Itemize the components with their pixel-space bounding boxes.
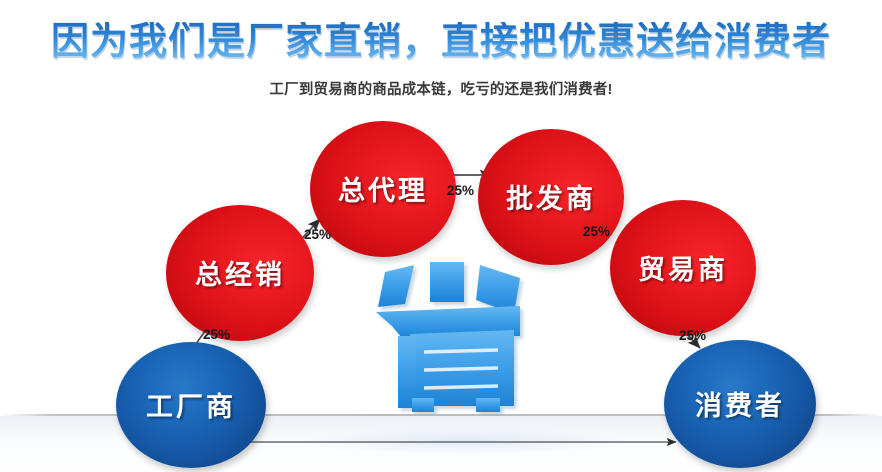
node-label-wholesaler: 批发商 — [506, 177, 596, 216]
node-trader[interactable]: 贸易商 — [610, 200, 756, 336]
promo-banner: 因为我们是厂家直销，直接把优惠送给消费者 工厂到贸易商的商品成本链，吃亏的还是我… — [0, 0, 882, 472]
markup-factory-distributor: 25% — [203, 327, 230, 342]
node-label-agent: 总代理 — [338, 169, 428, 208]
markup-trader-consumer: 25% — [679, 328, 706, 343]
node-label-distributor: 总经销 — [195, 253, 285, 292]
node-label-trader: 贸易商 — [638, 248, 728, 287]
markup-agent-wholesaler: 25% — [447, 183, 474, 198]
node-consumer[interactable]: 消费者 — [664, 340, 816, 468]
markup-wholesaler-trader: 25% — [583, 224, 610, 239]
node-agent[interactable]: 总代理 — [310, 121, 456, 257]
node-factory[interactable]: 工厂商 — [116, 342, 266, 468]
markup-distributor-agent: 25% — [304, 227, 331, 242]
node-label-consumer: 消费者 — [695, 384, 785, 423]
node-distributor[interactable]: 总经销 — [166, 205, 314, 341]
node-label-factory: 工厂商 — [146, 385, 236, 424]
node-wholesaler[interactable]: 批发商 — [478, 129, 624, 265]
